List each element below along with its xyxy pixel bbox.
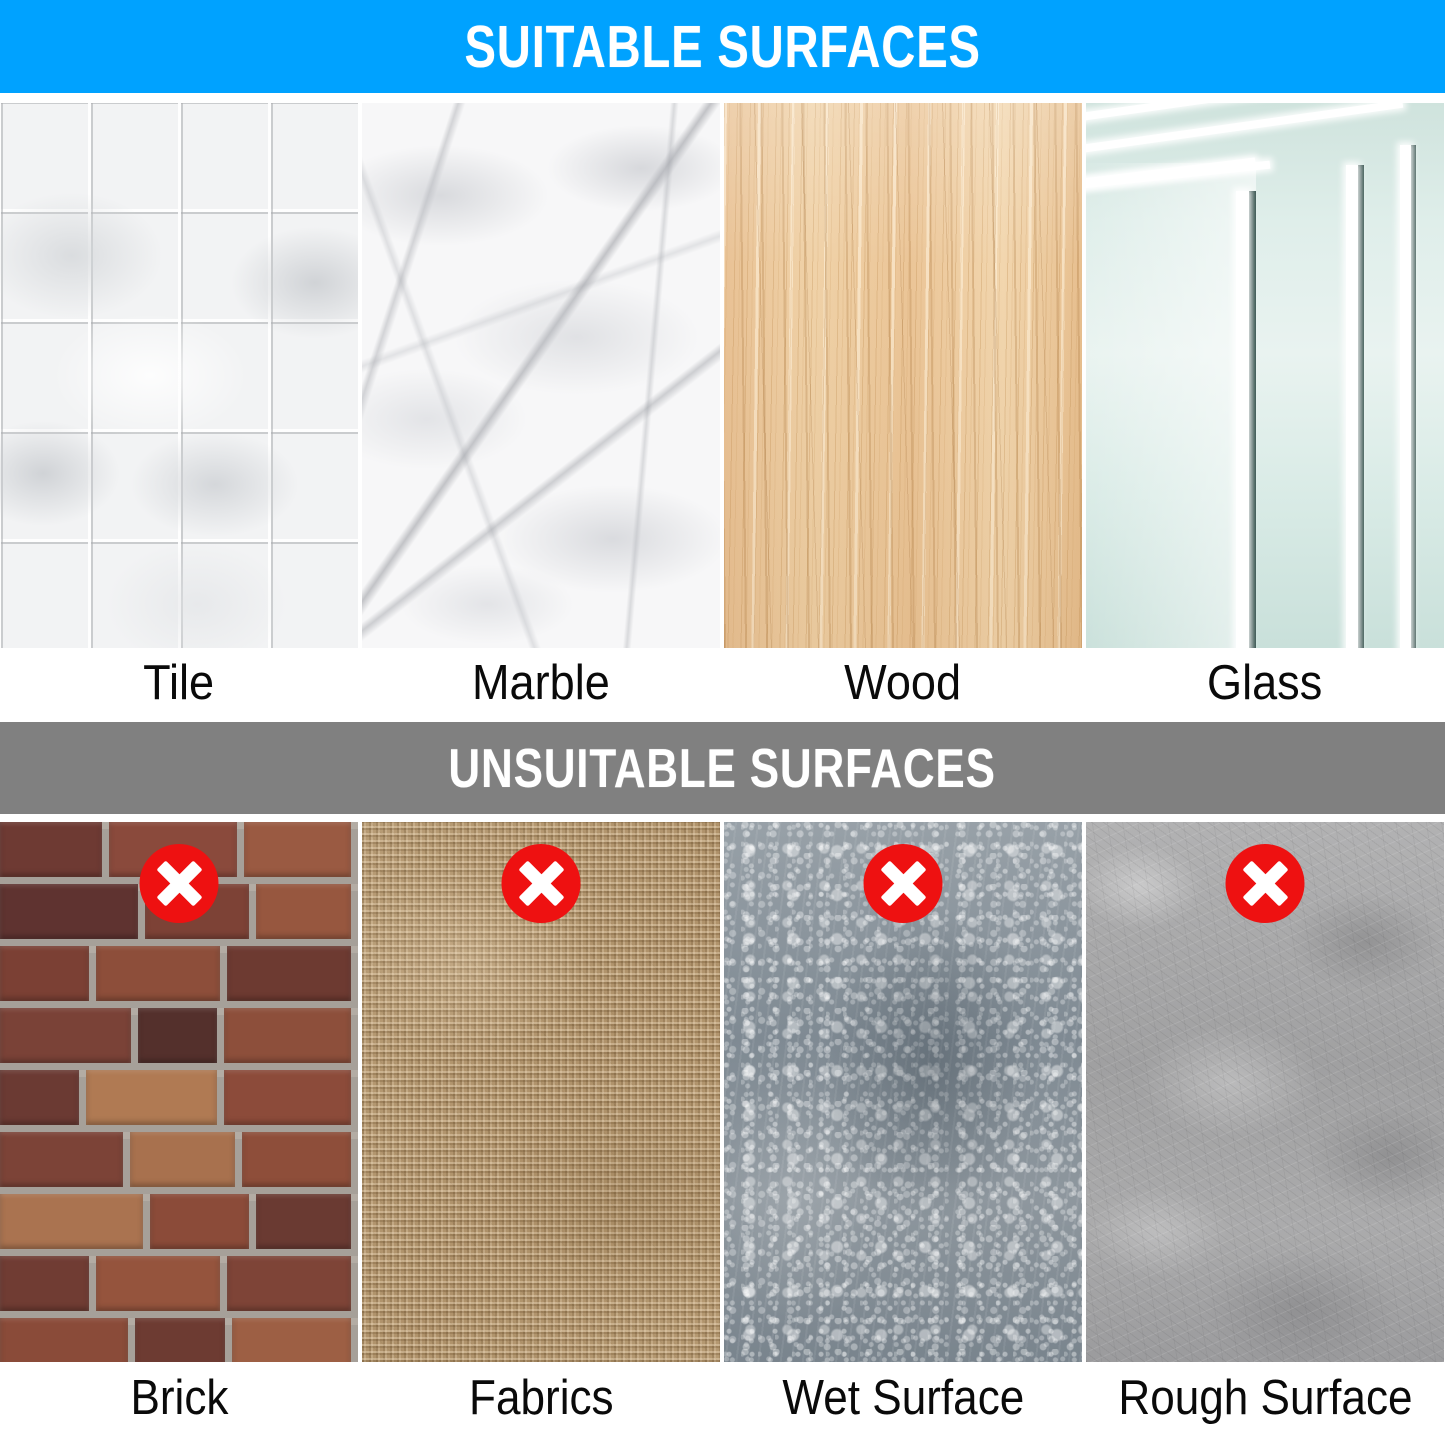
unsuitable-surfaces-banner: UNSUITABLE SURFACES	[0, 722, 1445, 814]
unsuitable-surfaces-image-row	[0, 822, 1445, 1362]
brick-row	[0, 1070, 358, 1125]
x-mark-icon-fabrics	[502, 844, 581, 923]
glass-dark-edge-2	[1358, 165, 1364, 648]
surface-label-glass: Glass	[1086, 648, 1444, 718]
surface-image-wood	[724, 103, 1082, 648]
x-mark-icon-wet-surface	[864, 844, 943, 923]
surface-label-brick-text: Brick	[130, 1370, 228, 1426]
x-mark-icon-rough-surface	[1226, 844, 1305, 923]
surface-label-rough: Rough Surface	[1086, 1366, 1444, 1430]
surface-image-fabrics	[362, 822, 720, 1362]
surface-image-rough	[1086, 822, 1444, 1362]
surface-label-rough-text: Rough Surface	[1118, 1370, 1412, 1426]
glass-highlight-1	[1236, 191, 1249, 648]
surface-label-wet: Wet Surface	[724, 1366, 1082, 1430]
suitable-surfaces-image-row	[0, 103, 1445, 648]
surface-label-wet-text: Wet Surface	[782, 1370, 1024, 1426]
surface-label-wood: Wood	[724, 648, 1082, 718]
surface-label-fabrics: Fabrics	[362, 1366, 720, 1430]
surface-label-marble: Marble	[362, 648, 720, 718]
unsuitable-banner-title: UNSUITABLE SURFACES	[449, 736, 996, 800]
surface-image-wet	[724, 822, 1082, 1362]
brick-row	[0, 946, 358, 1001]
brick-row	[0, 1008, 358, 1063]
surface-image-marble	[362, 103, 720, 648]
suitable-surfaces-labels: Tile Marble Wood Glass	[0, 648, 1445, 718]
suitable-surfaces-banner: SUITABLE SURFACES	[0, 0, 1445, 93]
x-mark-icon-brick	[140, 844, 219, 923]
glass-dark-edge-3	[1411, 145, 1416, 648]
surface-label-tile-text: Tile	[144, 655, 215, 711]
surface-label-fabrics-text: Fabrics	[469, 1370, 614, 1426]
surface-image-brick	[0, 822, 358, 1362]
brick-row	[0, 1318, 358, 1362]
brick-row	[0, 1256, 358, 1311]
surface-label-wood-text: Wood	[845, 655, 962, 711]
surface-label-marble-text: Marble	[472, 655, 610, 711]
surface-label-glass-text: Glass	[1207, 655, 1322, 711]
glass-pane-front	[1086, 163, 1256, 648]
surface-image-glass	[1086, 103, 1444, 648]
surface-label-tile: Tile	[0, 648, 358, 718]
glass-dark-edge-1	[1249, 191, 1256, 648]
suitable-banner-title: SUITABLE SURFACES	[464, 13, 980, 81]
unsuitable-surfaces-labels: Brick Fabrics Wet Surface Rough Surface	[0, 1366, 1445, 1430]
surface-image-tile	[0, 103, 358, 648]
surface-label-brick: Brick	[0, 1366, 358, 1430]
glass-highlight-3	[1400, 145, 1411, 648]
brick-row	[0, 1132, 358, 1187]
glass-highlight-2	[1346, 165, 1358, 648]
suitable-surfaces-infographic: SUITABLE SURFACES Tile Marble Wood Glass…	[0, 0, 1445, 1433]
brick-row	[0, 1194, 358, 1249]
